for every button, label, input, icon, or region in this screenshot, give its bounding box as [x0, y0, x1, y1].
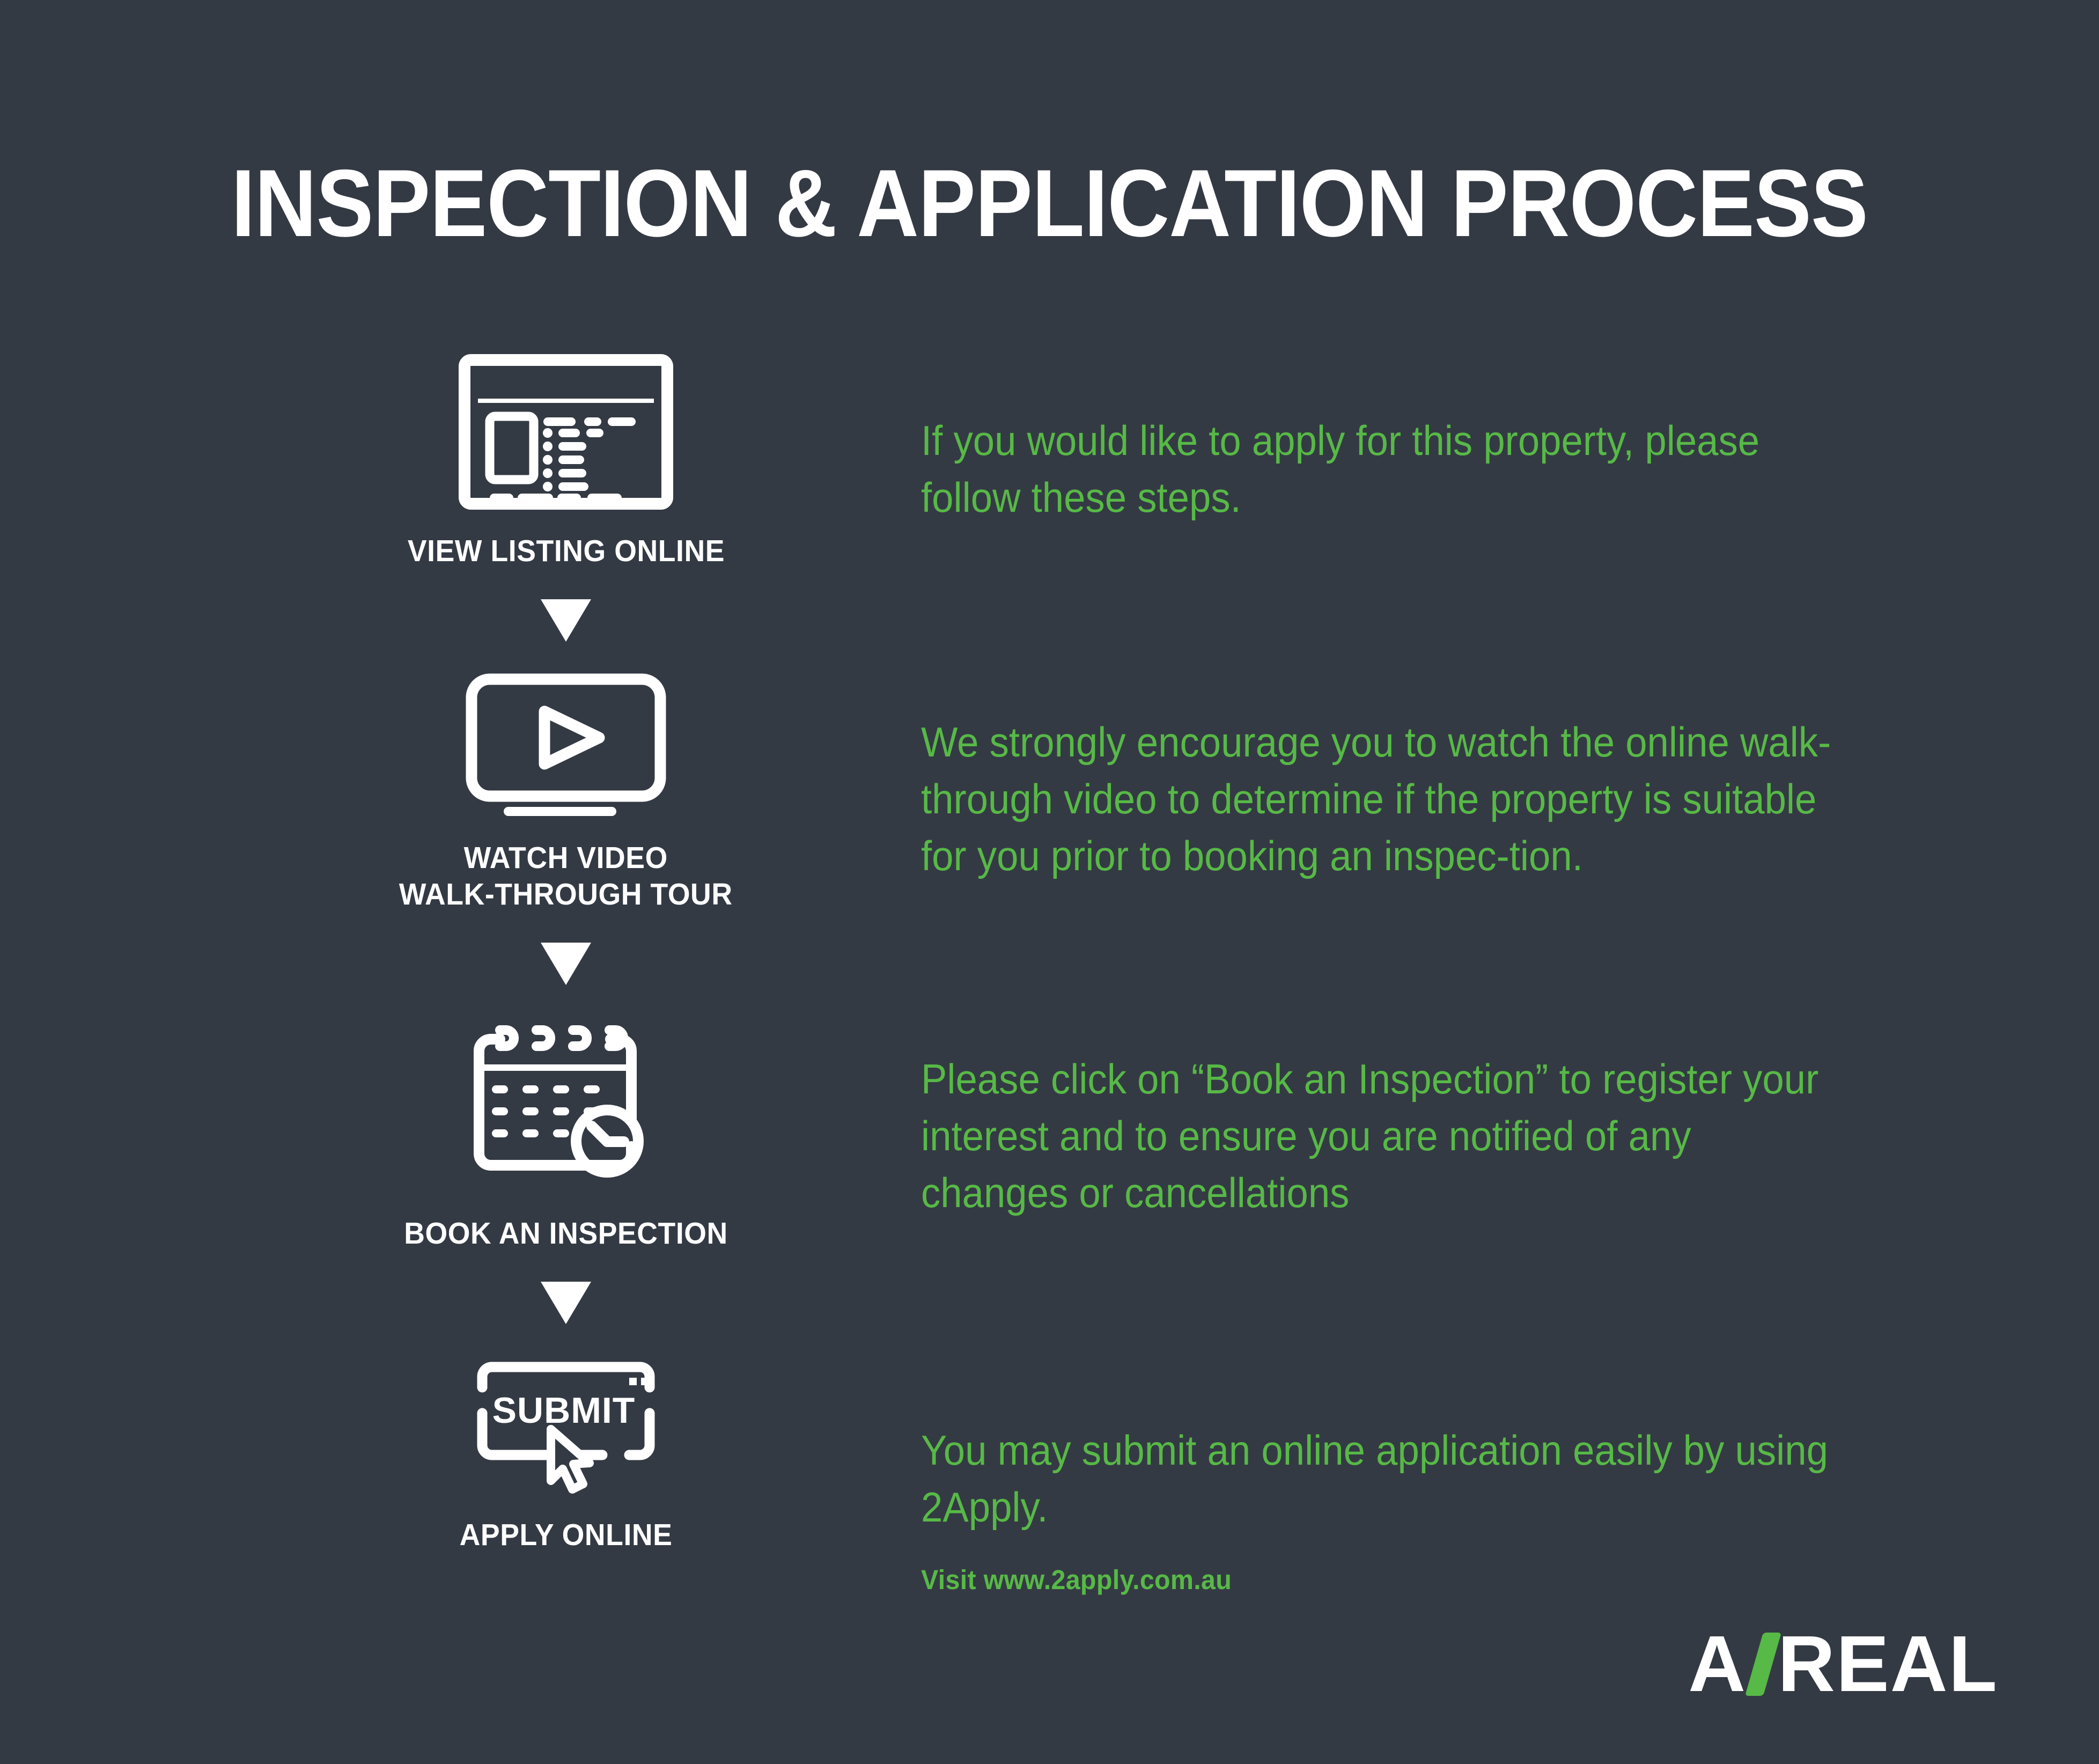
- step-watch-video: WATCH VIDEO WALK-THROUGH TOUR: [343, 672, 789, 913]
- flow-arrow-1-wrap: [343, 599, 789, 642]
- calendar-clock-icon: [467, 1015, 665, 1192]
- step-label-apply-online: APPLY ONLINE: [460, 1517, 673, 1553]
- step-label-watch-video: WATCH VIDEO WALK-THROUGH TOUR: [399, 840, 733, 913]
- step-book-inspection: BOOK AN INSPECTION: [343, 1015, 789, 1252]
- step-copy-book-inspection: Please click on “Book an Inspection” to …: [921, 1050, 1834, 1221]
- logo-letter-a: A: [1688, 1625, 1747, 1704]
- logo-word-real: REAL: [1778, 1625, 1998, 1704]
- logo-slash-icon: [1745, 1633, 1781, 1696]
- areal-logo: A REAL: [1688, 1625, 1998, 1704]
- step-apply-online: SUBMIT APPLY ONLINE: [343, 1354, 789, 1553]
- page-title: INSPECTION & APPLICATION PROCESS: [105, 156, 1994, 251]
- submit-button-cursor-icon: SUBMIT: [459, 1354, 673, 1494]
- video-play-monitor-icon: [464, 672, 668, 817]
- submit-icon-text: SUBMIT: [492, 1390, 636, 1431]
- step-copy-apply-online: You may submit an online application eas…: [921, 1422, 1834, 1535]
- browser-listing-icon: [459, 354, 673, 510]
- flow-arrow-3-wrap: [343, 1282, 789, 1324]
- chevron-down-arrow-icon: [541, 1282, 591, 1324]
- step-copy-watch-video: We strongly encourage you to watch the o…: [921, 714, 1834, 884]
- chevron-down-arrow-icon: [541, 943, 591, 985]
- visit-2apply-link[interactable]: Visit www.2apply.com.au: [921, 1564, 1232, 1596]
- flow-arrow-2-wrap: [343, 943, 789, 985]
- step-copy-view-listing-online: If you would like to apply for this prop…: [921, 412, 1834, 526]
- step-view-listing-online: VIEW LISTING ONLINE: [343, 354, 789, 569]
- chevron-down-arrow-icon: [541, 599, 591, 642]
- process-flow-column: VIEW LISTING ONLINE WATCH VIDEO WALK-THR…: [343, 354, 789, 1553]
- step-label-book-inspection: BOOK AN INSPECTION: [404, 1216, 728, 1252]
- step-label-view-listing-online: VIEW LISTING ONLINE: [407, 533, 724, 569]
